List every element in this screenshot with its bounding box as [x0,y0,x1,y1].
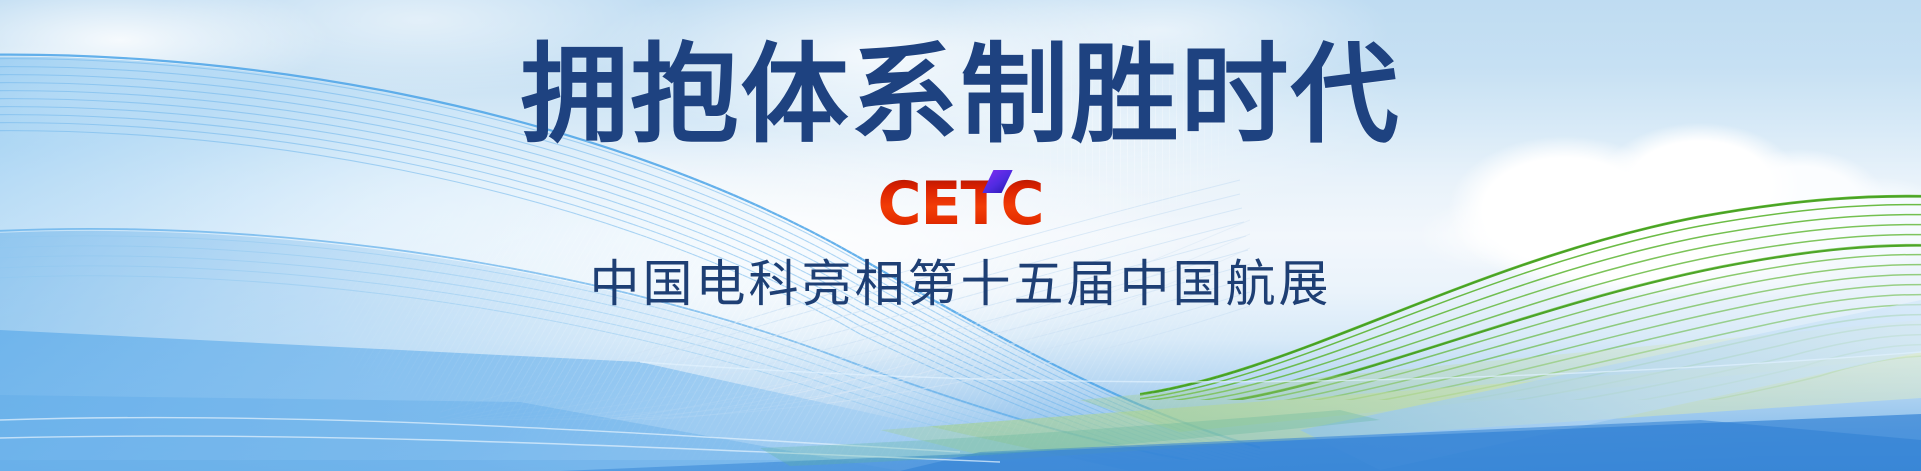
cetc-logo: CETC [878,173,1044,235]
page-title: 拥抱体系制胜时代 [520,38,1400,155]
banner-content: 拥抱体系制胜时代 CETC 中国电科亮相第十五届中国航展 [0,0,1921,471]
cetc-wordmark: CETC [878,174,1044,234]
cetc-airshow-banner: 拥抱体系制胜时代 CETC 中国电科亮相第十五届中国航展 [0,0,1921,471]
banner-subtitle: 中国电科亮相第十五届中国航展 [590,257,1332,312]
